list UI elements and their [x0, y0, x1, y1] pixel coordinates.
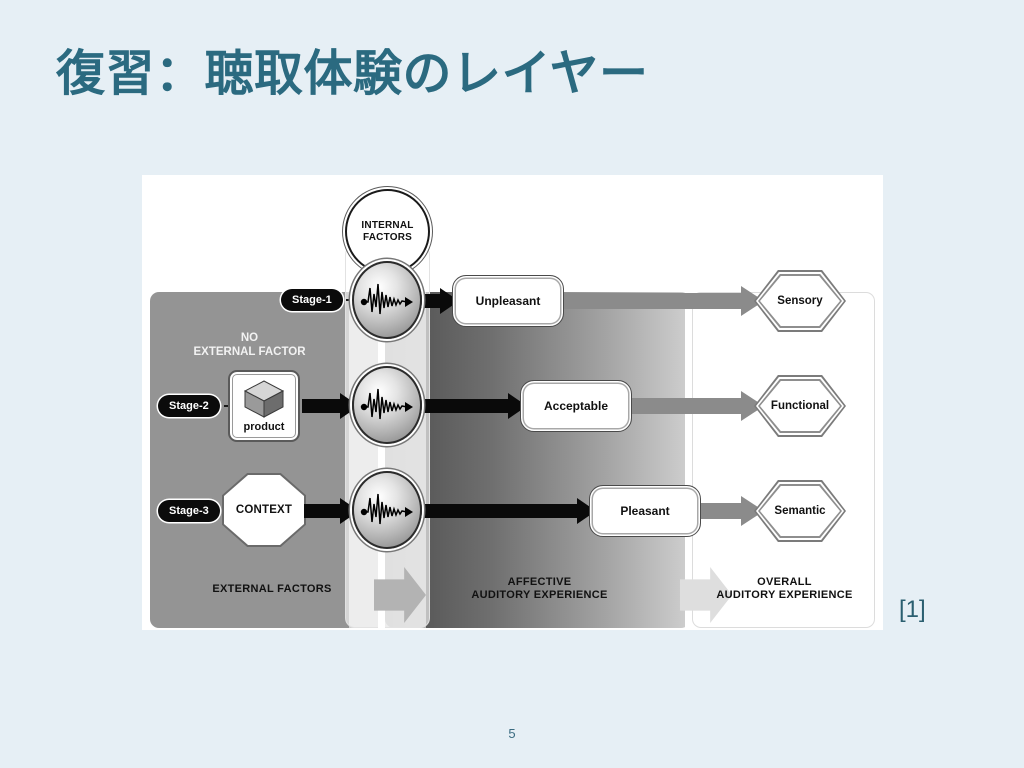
page-number: 5 — [0, 726, 1024, 741]
layer-functional-label: Functional — [771, 400, 829, 412]
caption-overall-auditory-experience: OVERALL AUDITORY EXPERIENCE — [702, 576, 867, 602]
internal-factors-line1: INTERNAL — [361, 220, 413, 232]
caption-affective-line1: AFFECTIVE — [432, 576, 647, 589]
waveform-icon — [359, 490, 415, 530]
product-label: product — [244, 421, 285, 433]
product-node: product — [228, 370, 300, 442]
citation-reference: [1] — [899, 596, 926, 624]
layer-functional: Functional — [754, 375, 846, 437]
outcome-unpleasant: Unpleasant — [452, 275, 564, 327]
panel-separator-right — [685, 292, 692, 628]
stage-3-badge[interactable]: Stage-3 — [158, 500, 220, 522]
context-label: CONTEXT — [236, 504, 292, 516]
diagram-figure: INTERNAL FACTORS EXTERNAL FACTORS AFFECT… — [142, 175, 883, 630]
outcome-pleasant: Pleasant — [589, 485, 701, 537]
stage-2-badge[interactable]: Stage-2 — [158, 395, 220, 417]
internal-factors-line2: FACTORS — [363, 232, 412, 244]
no-external-factor-line1: NO — [162, 331, 337, 345]
arrow-unpleasant-to-sensory-icon — [560, 286, 764, 316]
sound-waveform-node-3 — [352, 471, 422, 549]
caption-affective-auditory-experience: AFFECTIVE AUDITORY EXPERIENCE — [432, 576, 647, 602]
label-no-external-factor: NO EXTERNAL FACTOR — [162, 331, 337, 359]
arrow-context-to-perception-icon — [304, 498, 359, 524]
caption-external-factors: EXTERNAL FACTORS — [172, 583, 372, 596]
context-node: CONTEXT — [224, 475, 304, 545]
arrow-perception-to-acceptable-icon — [419, 393, 527, 419]
panel-separator-left — [378, 292, 385, 628]
no-external-factor-line2: EXTERNAL FACTOR — [162, 345, 337, 359]
waveform-icon — [359, 280, 415, 320]
waveform-icon — [359, 385, 415, 425]
caption-overall-line1: OVERALL — [702, 576, 867, 589]
cube-icon — [242, 379, 286, 419]
layer-semantic: Semantic — [754, 480, 846, 542]
layer-sensory-label: Sensory — [777, 295, 822, 307]
caption-affective-line2: AUDITORY EXPERIENCE — [432, 589, 647, 602]
sound-waveform-node-1 — [352, 261, 422, 339]
caption-overall-line2: AUDITORY EXPERIENCE — [702, 589, 867, 602]
layer-semantic-label: Semantic — [774, 505, 825, 517]
page-title: 復習：聴取体験のレイヤー — [56, 34, 649, 105]
arrow-product-to-perception-icon — [302, 393, 359, 419]
sound-waveform-node-2 — [352, 366, 422, 444]
stage-1-badge[interactable]: Stage-1 — [281, 289, 343, 311]
arrow-perception-to-pleasant-icon — [419, 498, 596, 524]
arrow-acceptable-to-functional-icon — [628, 391, 764, 421]
outcome-acceptable: Acceptable — [520, 380, 632, 432]
layer-sensory: Sensory — [754, 270, 846, 332]
